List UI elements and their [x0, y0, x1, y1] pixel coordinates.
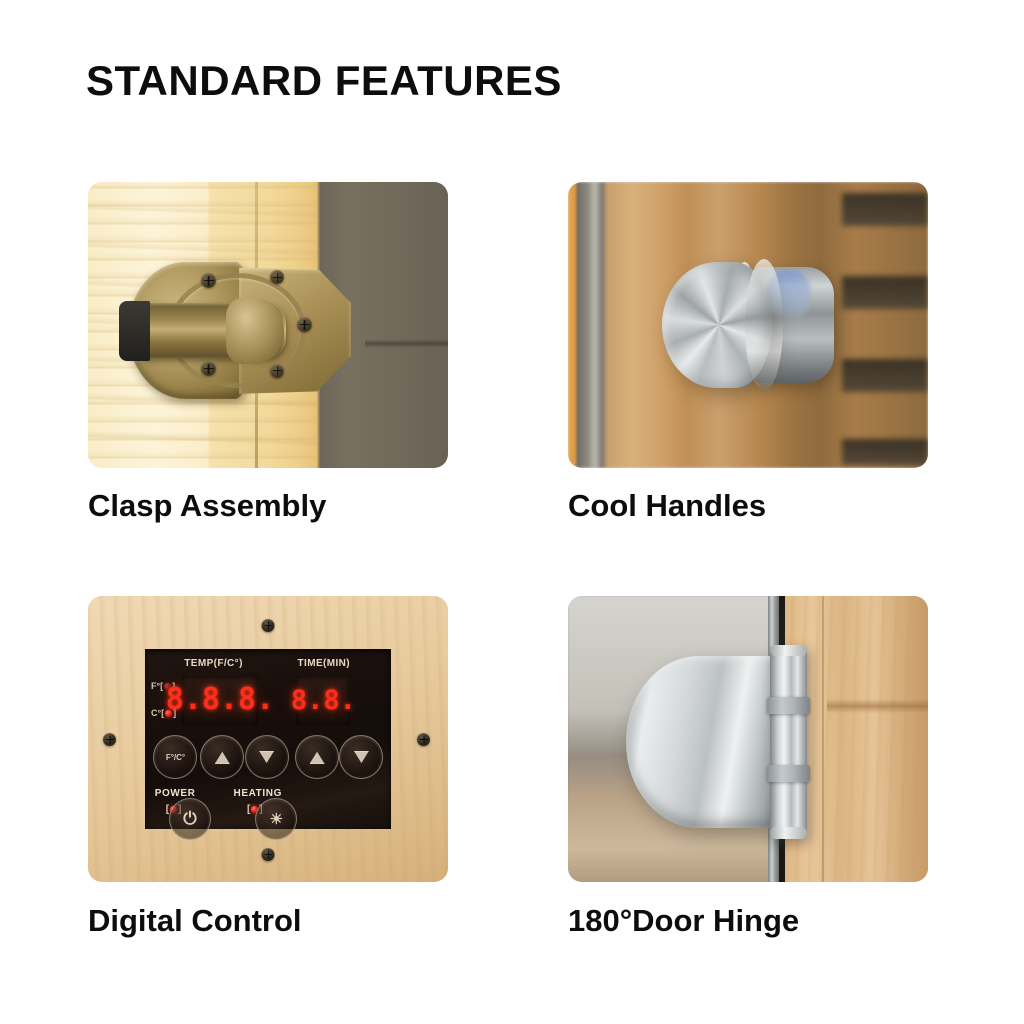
feature-card-clasp-assembly[interactable] — [88, 182, 448, 468]
temp-down-button[interactable] — [245, 735, 289, 779]
temp-label: TEMP(F/C°) — [184, 658, 243, 669]
digital-control-photo: TEMP(F/C°) TIME(MIN) F°[] C°[] 8.8.8. 8.… — [88, 596, 448, 882]
time-up-button[interactable] — [295, 735, 339, 779]
caption-cool-handles: Cool Handles — [568, 490, 766, 521]
hinge-plate-icon — [626, 656, 784, 828]
unit-c-label: C° — [151, 708, 161, 718]
time-down-button[interactable] — [339, 735, 383, 779]
temp-up-button[interactable] — [200, 735, 244, 779]
feature-infographic: STANDARD FEATURES Clasp Assembly — [0, 0, 1024, 1024]
unit-f-bracket-open: [ — [160, 681, 163, 691]
caption-door-hinge: 180°Door Hinge — [568, 905, 799, 936]
triangle-up-icon — [215, 751, 230, 764]
unit-toggle-label: F°/C° — [166, 753, 185, 762]
frame-screw-top — [262, 619, 275, 632]
triangle-up-icon — [310, 751, 325, 764]
frame-screw-bottom — [262, 848, 275, 861]
bronze-latch-icon — [128, 262, 351, 399]
temperature-display: 8.8.8. — [182, 676, 258, 725]
heating-status-label: HEATING — [234, 788, 282, 799]
door-knob-icon — [662, 259, 835, 391]
timer-value: 8.8. — [291, 687, 356, 714]
clasp-assembly-photo — [88, 182, 448, 468]
door-hinge-photo — [568, 596, 928, 882]
time-label: TIME(MIN) — [298, 658, 350, 669]
caption-clasp-assembly: Clasp Assembly — [88, 490, 326, 521]
triangle-down-icon — [259, 751, 274, 764]
hinge-barrel-icon — [770, 645, 808, 839]
temperature-value: 8.8.8. — [166, 685, 274, 715]
page-title: STANDARD FEATURES — [86, 58, 562, 104]
unit-f-label: F° — [151, 681, 160, 691]
timer-display: 8.8. — [296, 676, 350, 725]
unit-toggle-button[interactable]: F°/C° — [153, 735, 197, 779]
power-button[interactable]: ⏻ — [169, 798, 211, 840]
unit-c-bracket-open: [ — [161, 708, 164, 718]
feature-card-door-hinge[interactable] — [568, 596, 928, 882]
feature-card-cool-handles[interactable] — [568, 182, 928, 468]
light-button[interactable]: ☀ — [255, 798, 297, 840]
light-bulb-icon: ☀ — [270, 810, 283, 828]
feature-card-digital-control[interactable]: TEMP(F/C°) TIME(MIN) F°[] C°[] 8.8.8. 8.… — [88, 596, 448, 882]
cool-handles-photo — [568, 182, 928, 468]
power-status-label: POWER — [155, 788, 196, 799]
power-symbol-icon: ⏻ — [183, 809, 196, 829]
triangle-down-icon — [354, 751, 369, 764]
caption-digital-control: Digital Control — [88, 905, 302, 936]
